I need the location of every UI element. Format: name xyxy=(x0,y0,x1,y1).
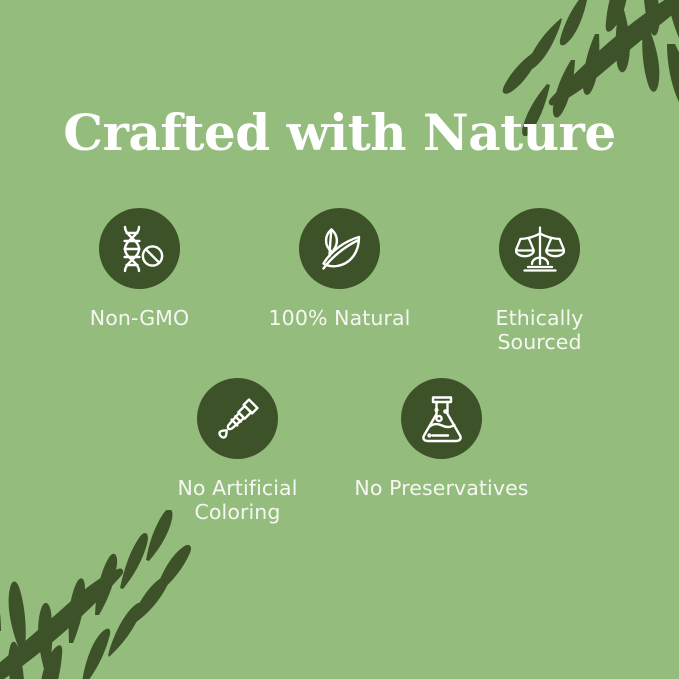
balance-scales-icon xyxy=(515,224,565,274)
badge-ethically-sourced[interactable]: Ethically Sourced xyxy=(440,208,640,354)
badge-100-natural[interactable]: 100% Natural xyxy=(240,208,440,354)
badge-no-preservatives[interactable]: No Preservatives xyxy=(340,378,544,524)
badge-label: No Preservatives xyxy=(354,476,528,500)
palm-frond-bottom-left-icon xyxy=(0,510,205,679)
dna-no-gmo-icon xyxy=(114,223,166,275)
page-title: Crafted with Nature xyxy=(0,108,679,158)
badge-row-secondary: No Artificial Coloring No Preservatives xyxy=(0,378,679,524)
badge-row-primary: Non-GMO 100% Natural xyxy=(0,208,679,354)
erlenmeyer-flask-icon xyxy=(418,395,466,443)
badge-label: Ethically Sourced xyxy=(496,306,584,354)
badge-icon-circle xyxy=(99,208,180,289)
badge-label: No Artificial Coloring xyxy=(177,476,297,524)
leaves-icon xyxy=(315,224,365,274)
badge-icon-circle xyxy=(197,378,278,459)
badge-label: Non-GMO xyxy=(90,306,189,330)
product-claims-infographic: Crafted with Nature Non-GMO xyxy=(0,0,679,679)
badge-icon-circle xyxy=(499,208,580,289)
badge-no-artificial-coloring[interactable]: No Artificial Coloring xyxy=(136,378,340,524)
badge-non-gmo[interactable]: Non-GMO xyxy=(40,208,240,354)
badge-icon-circle xyxy=(401,378,482,459)
dropper-pipette-icon xyxy=(213,394,263,444)
badge-label: 100% Natural xyxy=(269,306,411,330)
badge-icon-circle xyxy=(299,208,380,289)
